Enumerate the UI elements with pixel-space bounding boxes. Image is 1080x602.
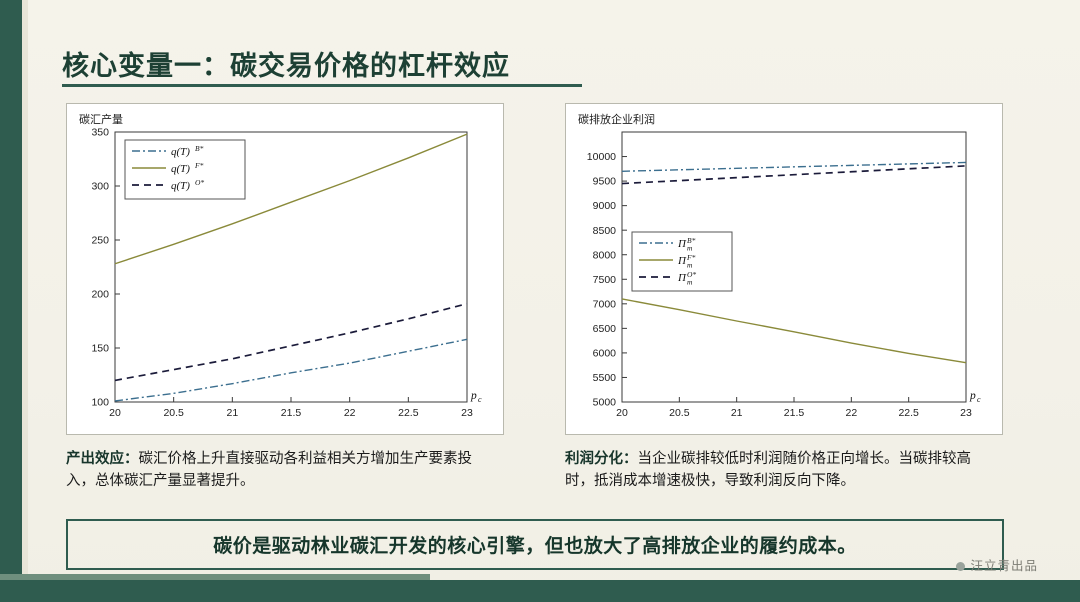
- caption-right-label: 利润分化：: [565, 451, 638, 467]
- chart-panel-right: 碳排放企业利润 50005500600065007000750080008500…: [565, 103, 1003, 435]
- svg-text:100: 100: [91, 397, 109, 409]
- svg-text:5500: 5500: [593, 372, 617, 384]
- svg-text:B*: B*: [687, 236, 696, 245]
- svg-text:22: 22: [845, 407, 857, 419]
- svg-text:7000: 7000: [593, 298, 617, 310]
- left-green-band: [0, 0, 22, 602]
- svg-text:p: p: [470, 390, 477, 402]
- svg-text:q(T): q(T): [171, 146, 190, 158]
- svg-text:F*: F*: [194, 161, 204, 170]
- bottom-green-band: [0, 580, 1080, 602]
- svg-text:21: 21: [226, 407, 238, 419]
- svg-text:300: 300: [91, 181, 109, 193]
- slide-canvas: 核心变量一：碳交易价格的杠杆效应 碳汇产量 100150200250300350…: [0, 0, 1080, 602]
- caption-right: 利润分化：当企业碳排较低时利润随价格正向增长。当碳排较高时，抵消成本增速极快，导…: [565, 449, 995, 493]
- svg-text:9500: 9500: [593, 176, 617, 188]
- svg-text:B*: B*: [195, 144, 204, 153]
- svg-text:Π: Π: [677, 238, 687, 250]
- svg-text:O*: O*: [195, 178, 204, 187]
- svg-text:21.5: 21.5: [784, 407, 805, 419]
- svg-text:6000: 6000: [593, 348, 617, 360]
- svg-text:Π: Π: [677, 255, 687, 267]
- conclusion-box: 碳价是驱动林业碳汇开发的核心引擎，但也放大了高排放企业的履约成本。: [66, 519, 1004, 570]
- caption-left: 产出效应：碳汇价格上升直接驱动各利益相关方增加生产要素投入，总体碳汇产量显著提升…: [66, 449, 496, 493]
- svg-text:21.5: 21.5: [281, 407, 302, 419]
- title-underline: [62, 84, 582, 87]
- svg-text:8000: 8000: [593, 249, 617, 261]
- svg-text:c: c: [977, 395, 981, 404]
- chart-panel-left: 碳汇产量 1001502002503003502020.52121.52222.…: [66, 103, 504, 435]
- chart-right-canvas: 5000550060006500700075008000850090009500…: [566, 104, 1002, 434]
- svg-text:p: p: [969, 390, 976, 402]
- conclusion-text: 碳价是驱动林业碳汇开发的核心引擎，但也放大了高排放企业的履约成本。: [213, 531, 857, 558]
- svg-text:22: 22: [344, 407, 356, 419]
- svg-text:Π: Π: [677, 272, 687, 284]
- svg-text:350: 350: [91, 127, 109, 139]
- svg-text:8500: 8500: [593, 225, 617, 237]
- svg-text:20: 20: [109, 407, 121, 419]
- svg-text:10000: 10000: [587, 151, 616, 163]
- svg-text:20: 20: [616, 407, 628, 419]
- watermark-dot-icon: [956, 562, 965, 571]
- chart-left-canvas: 1001502002503003502020.52121.52222.523pc…: [67, 104, 503, 434]
- svg-text:23: 23: [960, 407, 972, 419]
- svg-text:5000: 5000: [593, 397, 617, 409]
- svg-text:22.5: 22.5: [898, 407, 919, 419]
- svg-text:9000: 9000: [593, 200, 617, 212]
- svg-text:O*: O*: [687, 270, 696, 279]
- svg-text:200: 200: [91, 289, 109, 301]
- svg-text:q(T): q(T): [171, 163, 190, 175]
- svg-text:150: 150: [91, 343, 109, 355]
- svg-text:21: 21: [731, 407, 743, 419]
- left-inner-band: [22, 0, 28, 602]
- svg-text:22.5: 22.5: [398, 407, 419, 419]
- svg-text:20.5: 20.5: [163, 407, 184, 419]
- svg-text:F*: F*: [686, 253, 696, 262]
- svg-text:c: c: [478, 395, 482, 404]
- svg-text:250: 250: [91, 235, 109, 247]
- svg-text:23: 23: [461, 407, 473, 419]
- bottom-accent-band: [0, 574, 430, 580]
- watermark: 汪立青出品: [956, 555, 1038, 574]
- svg-text:q(T): q(T): [171, 180, 190, 192]
- page-title: 核心变量一：碳交易价格的杠杆效应: [62, 44, 510, 83]
- watermark-text: 汪立青出品: [970, 559, 1038, 573]
- svg-text:6500: 6500: [593, 323, 617, 335]
- svg-text:20.5: 20.5: [669, 407, 690, 419]
- svg-text:7500: 7500: [593, 274, 617, 286]
- caption-left-label: 产出效应：: [66, 451, 139, 467]
